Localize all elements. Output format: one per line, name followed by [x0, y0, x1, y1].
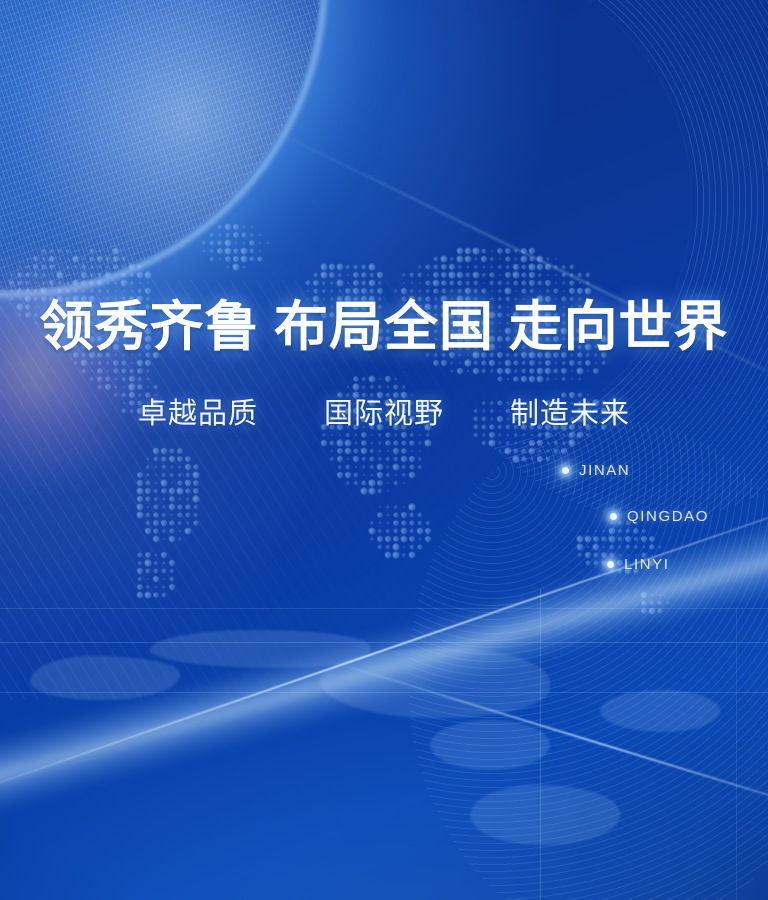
subheadline-container: 卓越品质 国际视野 制造未来: [0, 368, 768, 461]
page-subtitle: 卓越品质 国际视野 制造未来: [138, 397, 630, 432]
city-marker-qingdao[interactable]: QINGDAO: [610, 508, 709, 525]
page-title: 领秀齐鲁 布局全国 走向世界: [40, 298, 729, 356]
globe-texture: [0, 0, 320, 290]
city-label-linyi: LINYI: [624, 556, 670, 573]
location-dot-icon: [607, 561, 614, 568]
concentric-arcs-decoration-secondary: [408, 420, 768, 900]
globe-atmosphere-rim: [0, 0, 326, 296]
city-label-jinan: JINAN: [579, 462, 630, 479]
location-dot-icon: [562, 467, 569, 474]
city-marker-jinan[interactable]: JINAN: [562, 462, 630, 479]
light-streak-thin: [0, 476, 768, 803]
light-streak-right: [330, 660, 768, 826]
globe-icon: [0, 0, 320, 290]
city-label-qingdao: QINGDAO: [627, 508, 709, 525]
location-dot-icon: [610, 513, 617, 520]
city-marker-linyi[interactable]: LINYI: [607, 556, 670, 573]
perspective-ground-grid: [0, 570, 768, 900]
hero-banner: 领秀齐鲁 布局全国 走向世界 卓越品质 国际视野 制造未来 JINAN QING…: [0, 0, 768, 900]
